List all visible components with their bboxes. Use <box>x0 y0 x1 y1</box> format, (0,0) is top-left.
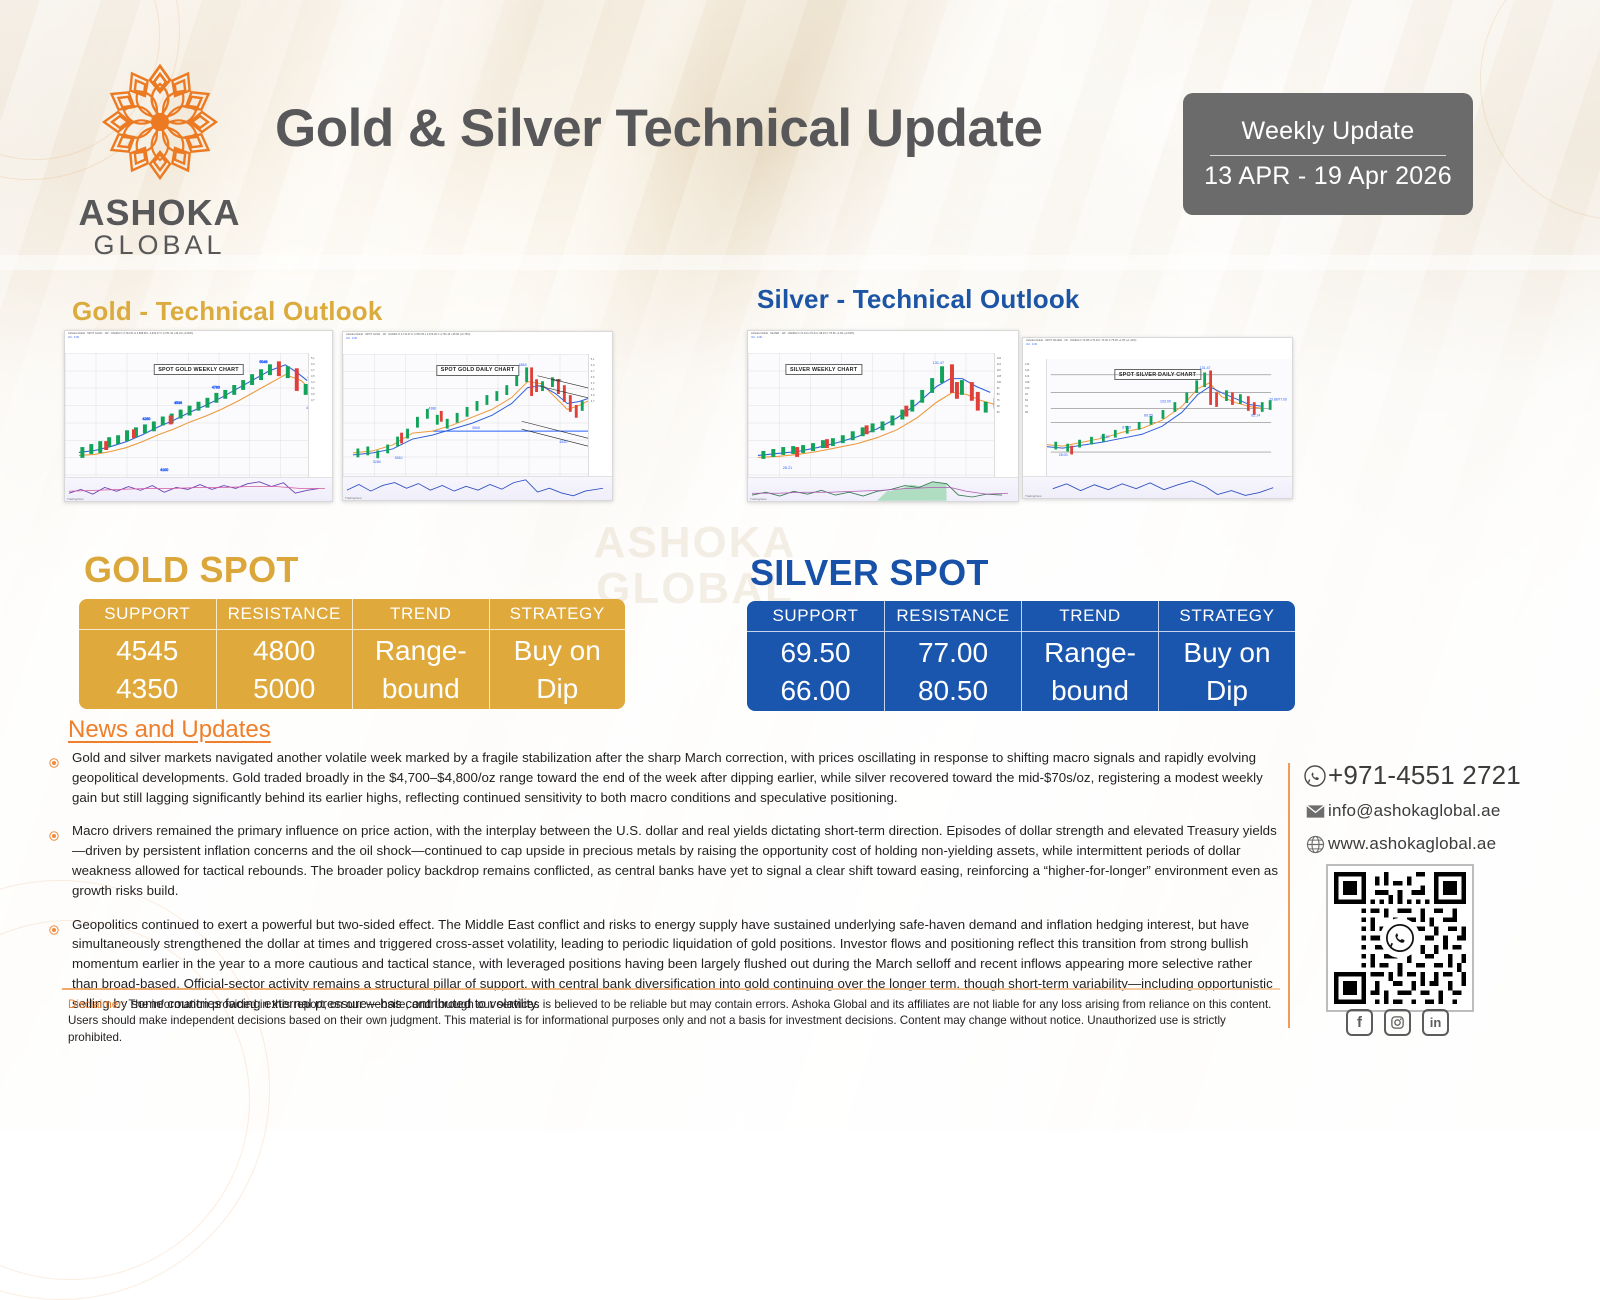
chart-meta: Ashoka Global · SPOT SILVER · 1D · OANDA… <box>1026 339 1136 342</box>
chart-indicator-pane <box>343 476 612 500</box>
news-item: Gold and silver markets navigated anothe… <box>46 748 1281 807</box>
disclaimer-divider <box>62 988 1280 990</box>
table-column-trend: TREND Range- bound <box>352 599 489 709</box>
bullet-icon <box>49 922 58 931</box>
linkedin-icon[interactable]: in <box>1422 1009 1449 1036</box>
chart-header: Ashoka Global · SPOT SILVER · 1D · OANDA… <box>1023 338 1292 359</box>
cell-line: 4800 <box>253 632 315 669</box>
cell-line: 5000 <box>253 670 315 707</box>
table-cell: Buy on Dip <box>1159 632 1295 711</box>
column-header: TREND <box>353 599 489 630</box>
column-header: RESISTANCE <box>885 601 1021 632</box>
column-header: SUPPORT <box>79 599 216 630</box>
table-cell: Range- bound <box>353 630 489 709</box>
chart-brand: TradingView <box>345 496 362 500</box>
svg-text:131.47: 131.47 <box>1200 366 1211 370</box>
brand-name: ASHOKA <box>72 192 247 234</box>
silver-spot-table: SUPPORT 69.50 66.00 RESISTANCE 77.00 80.… <box>747 601 1295 711</box>
social-links: f in <box>1346 1009 1449 1036</box>
contact-email: info@ashokaglobal.ae <box>1328 801 1501 821</box>
svg-text:103.00: 103.00 <box>1160 399 1171 403</box>
page-header: ASHOKA GLOBAL Gold & Silver Technical Up… <box>0 0 1600 250</box>
update-badge: Weekly Update 13 APR - 19 Apr 2026 <box>1183 93 1473 215</box>
chart-y-axis: 5,14,94,74,54,34,13,93,7 <box>588 354 612 477</box>
chart-plot-area: SPOT GOLD WEEKLY CHART <box>65 353 332 477</box>
table-cell: Buy on Dip <box>490 630 626 709</box>
contact-website-row[interactable]: www.ashokaglobal.ae <box>1302 831 1592 857</box>
chart-silver-weekly[interactable]: Ashoka Global · SILVER · 1W · OANDA O 72… <box>747 330 1019 502</box>
silver-section-heading: Silver - Technical Outlook <box>757 284 1080 315</box>
cell-line: Dip <box>1206 672 1248 709</box>
table-column-resistance: RESISTANCE 4800 5000 <box>216 599 353 709</box>
contact-panel: +971-4551 2721 info@ashokaglobal.ae <box>1302 760 1592 864</box>
chart-meta-secondary: Vol · 0.00 <box>68 336 79 339</box>
svg-text:4520: 4520 <box>559 440 567 444</box>
instagram-icon[interactable] <box>1384 1009 1411 1036</box>
svg-text:89.55: 89.55 <box>1144 413 1153 417</box>
svg-text:4280: 4280 <box>142 417 150 421</box>
table-column-resistance: RESISTANCE 77.00 80.50 <box>884 601 1021 711</box>
contact-email-row[interactable]: info@ashokaglobal.ae <box>1302 798 1592 824</box>
column-header: RESISTANCE <box>217 599 353 630</box>
contact-phone-row[interactable]: +971-4551 2721 <box>1302 760 1592 791</box>
chart-plot-area: SPOT SILVER DAILY CHART <box>1023 359 1292 476</box>
svg-text:4536: 4536 <box>174 401 182 405</box>
svg-text:3900: 3900 <box>472 426 480 430</box>
table-column-support: SUPPORT 4545 4350 <box>79 599 216 709</box>
cell-line: Buy on <box>1183 634 1270 671</box>
disclaimer-text: The information provided in this report,… <box>68 998 1271 1044</box>
table-column-strategy: STRATEGY Buy on Dip <box>489 599 626 709</box>
cell-line: 69.50 <box>780 634 850 671</box>
news-and-updates-heading[interactable]: News and Updates <box>68 716 271 744</box>
chart-spot-gold-daily[interactable]: Ashoka Global · SPOT GOLD · 1D · OANDA O… <box>342 331 613 501</box>
chart-plot-area: SILVER WEEKLY CHART <box>748 353 1018 477</box>
svg-text:4780: 4780 <box>212 386 220 390</box>
cell-line: Range- <box>1044 634 1136 671</box>
cell-line: Dip <box>536 670 578 707</box>
contact-divider <box>1288 763 1290 1028</box>
chart-spot-gold-weekly[interactable]: Ashoka Global · SPOT GOLD · 1W · OANDA O… <box>64 330 333 502</box>
column-header: STRATEGY <box>1159 601 1295 632</box>
table-column-support: SUPPORT 69.50 66.00 <box>747 601 884 711</box>
gold-spot-table: SUPPORT 4545 4350 RESISTANCE 4800 5000 T… <box>79 599 625 709</box>
chart-meta-secondary: Vol · 0.00 <box>1026 343 1037 346</box>
whatsapp-icon <box>1302 763 1328 789</box>
news-list: Gold and silver markets navigated anothe… <box>46 748 1281 1028</box>
table-cell: Range- bound <box>1022 632 1158 711</box>
gold-section-heading: Gold - Technical Outlook <box>72 296 383 327</box>
badge-divider <box>1210 155 1446 156</box>
chart-y-axis: 13212411610810092847668 <box>1023 359 1047 476</box>
chart-indicator-pane <box>748 477 1018 501</box>
column-header: STRATEGY <box>490 599 626 630</box>
table-cell: 69.50 66.00 <box>747 632 884 711</box>
chart-series: 131.4728.21 75.36 66.50 <box>748 353 1018 477</box>
silver-spot-title: SILVER SPOT <box>750 552 989 594</box>
svg-text:3510: 3510 <box>395 456 403 460</box>
svg-text:3280: 3280 <box>373 460 381 464</box>
whatsapp-qr-code[interactable] <box>1326 864 1474 1012</box>
chart-brand: TradingView <box>67 497 84 501</box>
cell-line: bound <box>1051 672 1129 709</box>
svg-text:131.47: 131.47 <box>933 361 945 365</box>
news-text: Gold and silver markets navigated anothe… <box>72 748 1281 807</box>
svg-text:67.16: 67.16 <box>1122 425 1131 429</box>
cell-line: 4350 <box>116 670 178 707</box>
cell-line: 80.50 <box>918 672 988 709</box>
svg-text:4479: 4479 <box>553 379 561 383</box>
brand-logo-block: ASHOKA GLOBAL <box>72 58 247 261</box>
chart-series: 50484780 45364280 4100 4620 4380 4761 <box>65 353 332 477</box>
cell-line: Range- <box>375 632 467 669</box>
chart-indicator-pane <box>1023 476 1292 498</box>
chart-plot-area: SPOT GOLD DAILY CHART 3900 <box>343 354 612 477</box>
disclaimer-label: Disclaimer: <box>68 998 125 1011</box>
svg-text:4100: 4100 <box>160 468 168 472</box>
cell-line: Buy on <box>514 632 601 669</box>
cell-line: 77.00 <box>918 634 988 671</box>
badge-date-range: 13 APR - 19 Apr 2026 <box>1204 162 1452 191</box>
envelope-icon <box>1302 798 1328 824</box>
table-column-trend: TREND Range- bound <box>1021 601 1158 711</box>
chart-meta-secondary: Vol · 0.00 <box>346 337 357 340</box>
svg-text:4863: 4863 <box>519 363 527 367</box>
disclaimer: Disclaimer: The information provided in … <box>68 997 1280 1046</box>
chart-meta-secondary: Vol · 0.00 <box>751 336 762 339</box>
cell-line: 66.00 <box>780 672 850 709</box>
bullet-icon <box>49 828 58 837</box>
news-text: Macro drivers remained the primary influ… <box>72 821 1281 900</box>
chart-brand: TradingView <box>1025 494 1042 498</box>
table-column-strategy: STRATEGY Buy on Dip <box>1158 601 1295 711</box>
badge-title: Weekly Update <box>1242 117 1415 146</box>
chart-y-axis: 1321241161081009284766860 <box>994 353 1018 477</box>
chart-meta: Ashoka Global · SILVER · 1W · OANDA O 72… <box>751 332 854 335</box>
contact-website: www.ashokaglobal.ae <box>1328 834 1496 854</box>
chart-indicator-pane <box>65 477 332 501</box>
svg-text:51.30: 51.30 <box>1100 435 1109 439</box>
contact-phone: +971-4551 2721 <box>1328 760 1521 791</box>
globe-icon <box>1302 831 1328 857</box>
column-header: SUPPORT <box>747 601 884 632</box>
svg-text:28.21: 28.21 <box>783 466 792 470</box>
brand-subtitle: GLOBAL <box>72 230 247 261</box>
chart-series: 131.47103.00 89.5567.16 51.3028.00 62.14… <box>1023 359 1292 476</box>
chart-y-axis: 5,14,94,74,54,34,13,93,7 <box>308 353 332 477</box>
svg-text:5048: 5048 <box>260 360 268 364</box>
svg-text:73.88/77.00: 73.88/77.00 <box>1269 397 1287 401</box>
whatsapp-icon <box>1380 918 1420 958</box>
mandala-flower-icon <box>96 58 224 186</box>
facebook-icon[interactable]: f <box>1346 1009 1373 1036</box>
news-item: Macro drivers remained the primary influ… <box>46 821 1281 900</box>
svg-text:62.14: 62.14 <box>1251 413 1260 417</box>
chart-series: 3900 <box>343 354 612 477</box>
table-cell: 4545 4350 <box>79 630 216 709</box>
page-title: Gold & Silver Technical Update <box>275 98 1155 159</box>
table-cell: 4800 5000 <box>217 630 353 709</box>
chart-brand: TradingView <box>750 497 767 501</box>
chart-meta: Ashoka Global · SPOT GOLD · 1W · OANDA O… <box>68 332 193 335</box>
cell-line: bound <box>382 670 460 707</box>
svg-text:28.00: 28.00 <box>1059 453 1068 457</box>
chart-header: Ashoka Global · SILVER · 1W · OANDA O 72… <box>748 331 1018 353</box>
svg-text:4380: 4380 <box>428 406 436 410</box>
chart-spot-silver-daily[interactable]: Ashoka Global · SPOT SILVER · 1D · OANDA… <box>1022 337 1293 499</box>
cell-line: 4545 <box>116 632 178 669</box>
table-cell: 77.00 80.50 <box>885 632 1021 711</box>
gold-spot-title: GOLD SPOT <box>84 549 299 591</box>
chart-meta: Ashoka Global · SPOT GOLD · 1D · OANDA O… <box>346 333 470 336</box>
column-header: TREND <box>1022 601 1158 632</box>
bullet-icon <box>49 755 58 764</box>
chart-header: Ashoka Global · SPOT GOLD · 1D · OANDA O… <box>343 332 612 354</box>
chart-header: Ashoka Global · SPOT GOLD · 1W · OANDA O… <box>65 331 332 353</box>
